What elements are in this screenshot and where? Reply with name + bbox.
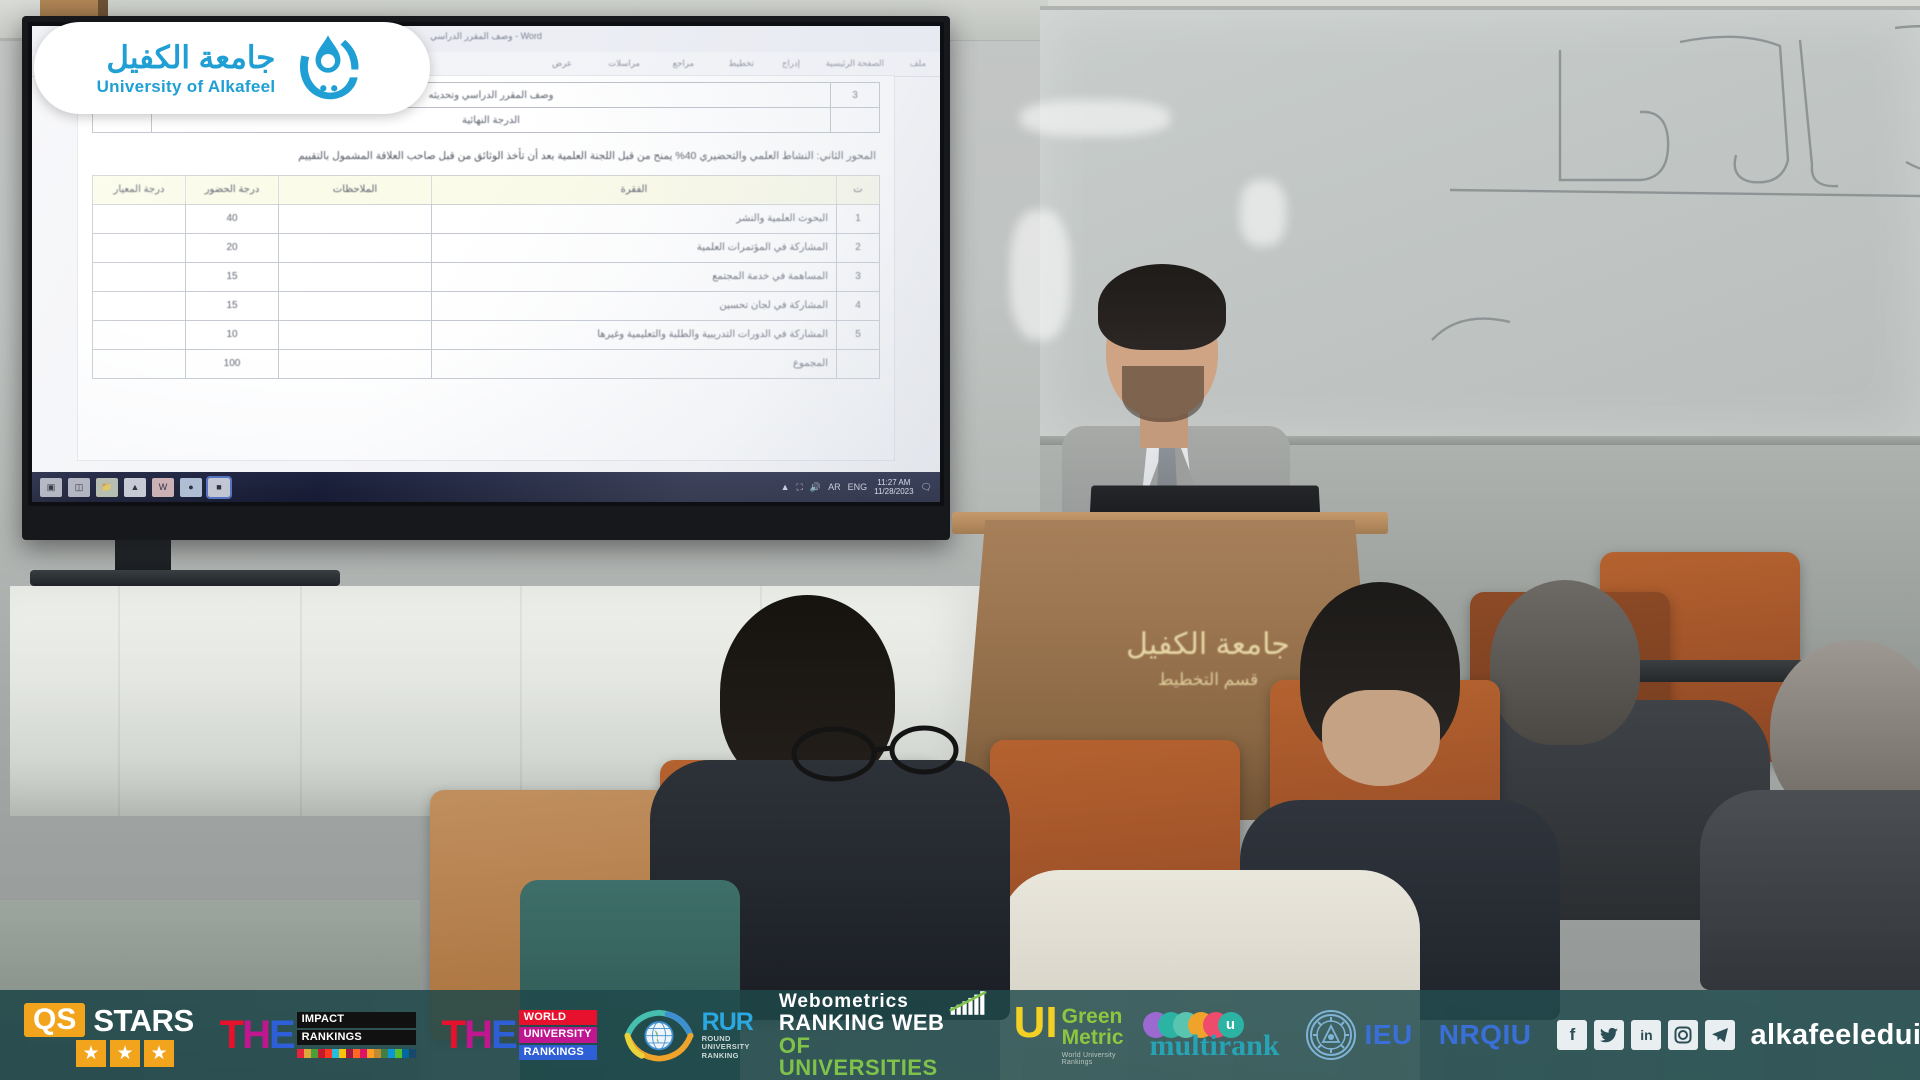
badge-text: جامعة الكفيل University of Alkafeel [97,42,276,95]
clock-time: 11:27 AM [877,478,910,487]
row-3-note [279,291,432,320]
row-4-note [279,320,432,349]
ribbon-item-2[interactable]: إدراج [782,58,800,69]
row-2-note [279,262,432,291]
the-letters: T H E [442,1017,516,1053]
battery-icon[interactable]: ENG [848,482,868,492]
taskbar-tray: ▲ ⛶ 🔊 AR ENG 11:27 AM 11/28/2023 🗨 [781,478,940,496]
footer-logo-row: QS STARS ★ ★ ★ T H E IMPACT RANKIN [0,992,1920,1079]
rur-text: RUR ROUND UNIVERSITY RANKING [702,1010,753,1060]
linkedin-icon[interactable]: in [1631,1020,1661,1050]
row-4-item: المشاركة في الدورات التدريبية والطلبة وا… [432,320,837,349]
row-1-extra [93,233,186,262]
col-header-0: ت [837,175,880,204]
podium-logo-line1: جامعة الكفيل [1108,630,1308,660]
taskbar-clock[interactable]: 11:27 AM 11/28/2023 [874,478,913,496]
row-3-num: 4 [837,291,880,320]
ribbon-item-3[interactable]: تخطيط [729,58,754,69]
table-row: 4 المشاركة في لجان تحسين 15 [93,291,880,320]
ui-subtitle: World University Rankings [1062,1052,1124,1066]
network-icon[interactable]: ⛶ [797,482,803,493]
row-4-extra [93,320,186,349]
chrome-icon[interactable]: ● [180,478,202,497]
nrqiu-logo: NRQIU [1439,1019,1532,1051]
the-letters: T H E [220,1017,294,1053]
the-letter-t: T [442,1017,464,1053]
ieu-wordmark: IEU [1365,1019,1413,1051]
row-4-num: 5 [837,320,880,349]
col-header-2: الملاحظات [279,175,432,204]
rur-wordmark: RUR [702,1010,753,1035]
task-view-icon[interactable]: ◫ [68,478,90,497]
table-row: 2 المشاركة في المؤتمرات العلمية 20 [93,233,880,262]
qs-word: STARS [93,1005,193,1036]
row-2-num: 3 [837,262,880,291]
the-world-university-rankings-logo: T H E WORLD UNIVERSITY RANKINGS [442,1010,597,1061]
row-5-extra [93,349,186,378]
multirank-wordmark: multirank [1150,1032,1280,1059]
speaker-beard [1122,366,1204,422]
file-explorer-icon[interactable]: 📁 [96,478,118,497]
document-sheet: 3 وصف المقرر الدراسي وتحديثه الدرجة النه… [78,76,894,460]
bar-chart-arrow-icon [949,988,988,1018]
social-links: f in alkafeeleduiq [1557,1019,1920,1052]
windows-taskbar: ▣ ◫ 📁 ▲ W ● ■ ▲ ⛶ 🔊 AR ENG 11:27 AM [32,472,940,502]
row-2-item: المساهمة في خدمة المجتمع [432,262,837,291]
twitter-icon[interactable] [1594,1020,1624,1050]
ui-mark: UI [1014,1004,1058,1041]
window-title: وصف المقرر الدراسي - Word [430,31,542,42]
audience-head [1490,580,1640,745]
webometrics-logo: Webometrics RANKING WEB OF UNIVERSITIES [779,992,988,1079]
top-table-num-1 [831,108,880,133]
display-stand-foot [30,570,340,586]
ieu-logo: IEU [1306,1010,1413,1060]
clock-date: 11/28/2023 [874,487,913,496]
row-3-score: 15 [186,291,279,320]
row-2-score: 15 [186,262,279,291]
document-paragraph: المحور الثاني: النشاط العلمي والتحضيري 4… [96,149,876,165]
webometrics-line2: RANKING WEB [779,1012,945,1034]
table-row: 5 المشاركة في الدورات التدريبية والطلبة … [93,320,880,349]
language-icon[interactable]: AR [828,482,841,492]
qs-star-3: ★ [144,1040,174,1067]
webometrics-line1: Webometrics [779,992,945,1011]
top-table-num-0: 3 [831,83,880,108]
badge-english-name: University of Alkafeel [97,78,276,95]
audience-neck [1322,690,1440,786]
rur-line-2: RANKING [702,1052,753,1060]
rur-ranking-logo: RUR ROUND UNIVERSITY RANKING [623,1007,753,1063]
chevron-up-icon[interactable]: ▲ [781,482,790,492]
document-page: 3 وصف المقرر الدراسي وتحديثه الدرجة النه… [78,76,894,460]
row-0-note [279,204,432,233]
qs-top: QS STARS [24,1003,194,1037]
sdg-color-bar [297,1049,416,1058]
tag-rankings: RANKINGS [519,1045,597,1061]
row-5-item: المجموع [432,349,837,378]
whiteboard-smudge [1010,210,1070,340]
alkafeel-droplet-logo-icon [289,29,367,107]
row-0-item: البحوث العلمية والنشر [432,204,837,233]
col-header-3: درجة الحضور [186,175,279,204]
the-letter-t: T [220,1017,242,1053]
qs-star-rating: ★ ★ ★ [76,1040,194,1067]
whiteboard-smudge [1020,100,1170,136]
ribbon-item-1[interactable]: الصفحة الرئيسية [826,58,884,69]
row-5-note [279,349,432,378]
the-impact-tags: IMPACT RANKINGS [297,1012,416,1058]
col-header-1: الفقرة [432,175,837,204]
u-multirank-logo: u multirank [1150,1012,1280,1059]
drape-fold [118,586,120,816]
tag-impact: IMPACT [297,1012,416,1028]
row-1-note [279,233,432,262]
tag-university: UNIVERSITY [519,1027,597,1043]
ribbon-item-0[interactable]: ملف [910,58,926,69]
footer-banner: QS STARS ★ ★ ★ T H E IMPACT RANKIN [0,990,1920,1080]
the-wur-tags: WORLD UNIVERSITY RANKINGS [519,1010,597,1061]
row-0-num: 1 [837,204,880,233]
whiteboard-smudge [1240,180,1286,246]
ui-green: Green [1062,1006,1124,1027]
telegram-icon[interactable] [1705,1020,1735,1050]
eyeglasses-icon [790,718,960,788]
store-icon[interactable]: ▲ [124,478,146,497]
pdf-icon[interactable]: ■ [208,478,230,497]
gear-seal-icon [1306,1010,1356,1060]
ui-metric: Metric [1062,1027,1124,1048]
social-handle[interactable]: alkafeeleduiq [1750,1019,1920,1052]
row-1-num: 2 [837,233,880,262]
screenshot-canvas: وصف المقرر الدراسي - Word ملف الصفحة الر… [0,0,1920,1080]
row-4-score: 10 [186,320,279,349]
webometrics-line3: OF UNIVERSITIES [779,1035,945,1079]
row-1-score: 20 [186,233,279,262]
the-letter-e: E [491,1017,516,1053]
drape-fold [300,586,302,816]
ribbon-item-4[interactable]: مراجع [673,58,694,69]
badge-arabic-name: جامعة الكفيل [97,42,276,73]
qs-stars-logo: QS STARS ★ ★ ★ [24,1003,194,1067]
row-0-extra [93,204,186,233]
ui-text: Green Metric World University Rankings [1062,1006,1124,1066]
taskbar-apps: ▣ ◫ 📁 ▲ W ● ■ [32,478,230,497]
drape-fold [520,586,522,816]
speaker-hair [1098,264,1226,350]
ribbon-item-6[interactable]: عرض [552,58,572,69]
display-stand-neck [115,540,171,574]
row-3-item: المشاركة في لجان تحسين [432,291,837,320]
notification-icon[interactable]: 🗨 [921,482,932,493]
qs-mark: QS [24,1003,85,1037]
globe-eye-icon [623,1007,695,1063]
webometrics-text: Webometrics RANKING WEB OF UNIVERSITIES [779,992,945,1079]
tag-world: WORLD [519,1010,597,1026]
row-2-extra [93,262,186,291]
qs-star-2: ★ [110,1040,140,1067]
ui-greenmetric-logo: UI Green Metric World University Ranking… [1014,1004,1124,1066]
university-logo-badge: جامعة الكفيل University of Alkafeel [34,22,430,114]
ribbon-item-5[interactable]: مراسلات [608,58,640,69]
col-header-4: درجة المعيار [93,175,186,204]
row-0-score: 40 [186,204,279,233]
instagram-icon[interactable] [1668,1020,1698,1050]
tag-rankings: RANKINGS [297,1030,416,1046]
audience-shoulders [1700,790,1920,990]
the-letter-h: H [242,1017,269,1053]
the-letter-e: E [269,1017,294,1053]
row-1-item: المشاركة في المؤتمرات العلمية [432,233,837,262]
row-5-score: 100 [186,349,279,378]
table-row: المجموع 100 [93,349,880,378]
table-header-row: ت الفقرة الملاحظات درجة الحضور درجة المع… [93,175,880,204]
facebook-icon[interactable]: f [1557,1020,1587,1050]
the-impact-rankings-logo: T H E IMPACT RANKINGS [220,1012,416,1058]
table-row: 1 البحوث العلمية والنشر 40 [93,204,880,233]
word-icon[interactable]: W [152,478,174,497]
main-table: ت الفقرة الملاحظات درجة الحضور درجة المع… [92,175,880,379]
start-icon[interactable]: ▣ [40,478,62,497]
table-row: 3 المساهمة في خدمة المجتمع 15 [93,262,880,291]
row-5-num [837,349,880,378]
row-3-extra [93,291,186,320]
the-letter-h: H [464,1017,491,1053]
volume-icon[interactable]: 🔊 [810,482,821,493]
qs-star-1: ★ [76,1040,106,1067]
